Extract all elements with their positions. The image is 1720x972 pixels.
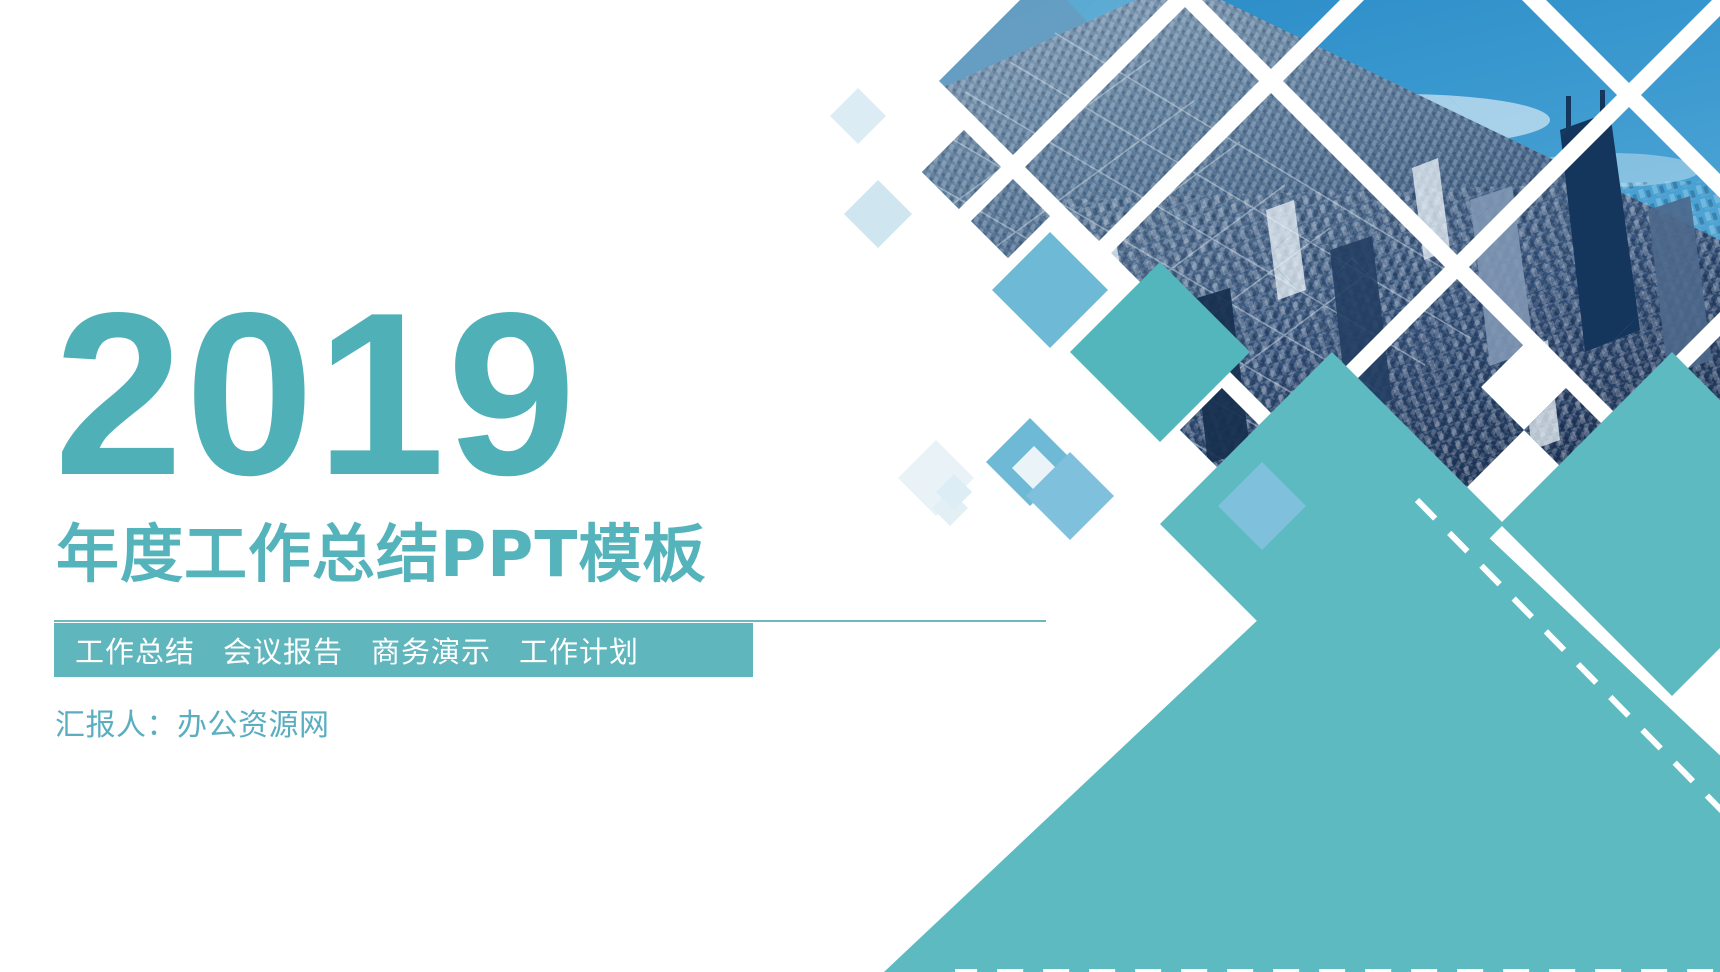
pale-diamond-small <box>830 88 886 144</box>
blue-diamond-small-2 <box>1218 462 1306 550</box>
year-heading: 2019 <box>54 288 1054 501</box>
tag-item-1[interactable]: 会议报告 <box>209 629 357 671</box>
presentation-slide: 2019 年度工作总结PPT模板 工作总结 会议报告 商务演示 工作计划 汇报人… <box>0 0 1720 972</box>
dashed-triangle-outline <box>955 500 1720 972</box>
teal-diamond-xl <box>1160 352 1504 696</box>
teal-diamond-right <box>1500 352 1720 696</box>
title-block: 2019 年度工作总结PPT模板 <box>54 288 1054 586</box>
page-title: 年度工作总结PPT模板 <box>56 523 1054 586</box>
tag-item-3[interactable]: 工作计划 <box>505 629 653 671</box>
tag-item-2[interactable]: 商务演示 <box>357 629 505 671</box>
tag-band: 工作总结 会议报告 商务演示 工作计划 <box>54 623 753 677</box>
presenter-line: 汇报人：办公资源网 <box>55 700 330 744</box>
pale-diamond-medium <box>844 180 912 248</box>
teal-diamond-large <box>1070 262 1250 442</box>
tag-item-0[interactable]: 工作总结 <box>61 629 209 671</box>
title-underline <box>54 620 1046 622</box>
